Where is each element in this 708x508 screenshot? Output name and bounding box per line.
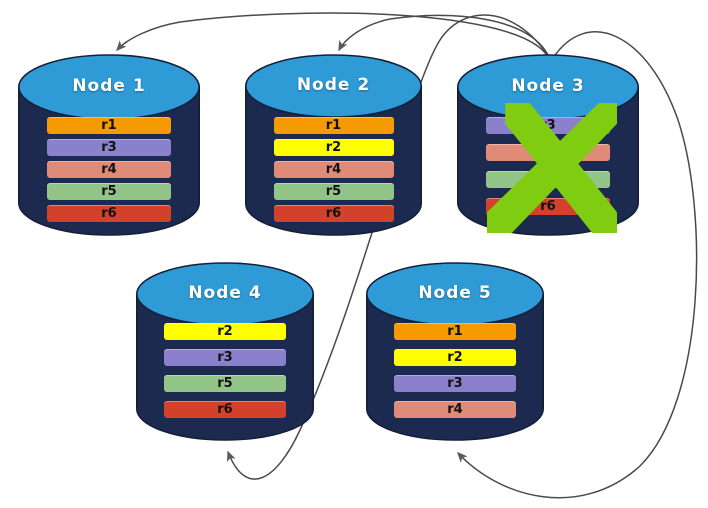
cylinder-top [458, 55, 638, 119]
replica-bar-r2[interactable]: r2 [394, 349, 516, 366]
replica-list: r1r3r4r5r6 [18, 117, 200, 222]
database-node-5[interactable]: Node 5r1r2r3r4 [366, 263, 544, 440]
replica-bar-r1[interactable]: r1 [274, 117, 394, 134]
database-node-1[interactable]: Node 1r1r3r4r5r6 [18, 55, 200, 235]
cylinder-top [19, 55, 199, 119]
replica-bar-r5[interactable]: r5 [47, 183, 171, 200]
replica-bar-r2[interactable]: r2 [274, 139, 394, 156]
replica-bar-r3[interactable]: r3 [486, 117, 610, 134]
replica-bar-r3[interactable]: r3 [47, 139, 171, 156]
cylinder-top [367, 263, 543, 325]
replica-bar-r2[interactable]: r2 [164, 323, 286, 340]
replica-bar-r6[interactable]: r6 [47, 205, 171, 222]
replica-bar-r6[interactable]: r6 [486, 198, 610, 215]
cylinder-top [246, 55, 421, 117]
diagram-canvas: Node 1r1r3r4r5r6Node 2r1r2r4r5r6Node 3r3… [0, 0, 708, 508]
edge-node3-to-node2 [339, 15, 549, 57]
replica-bar-r3[interactable]: r3 [394, 375, 516, 392]
replica-bar-r6[interactable]: r6 [274, 205, 394, 222]
replica-bar-r4[interactable]: r4 [47, 161, 171, 178]
replica-bar-r6[interactable]: r6 [164, 401, 286, 418]
database-node-4[interactable]: Node 4r2r3r5r6 [136, 263, 314, 440]
replica-list: r1r2r4r5r6 [245, 117, 422, 222]
replica-bar-r1[interactable]: r1 [47, 117, 171, 134]
database-node-3[interactable]: Node 3r3r4r5r6 [457, 55, 639, 235]
replica-bar-r4[interactable]: r4 [274, 161, 394, 178]
replica-bar-r5[interactable]: r5 [486, 171, 610, 188]
replica-list: r2r3r5r6 [136, 323, 314, 418]
replica-bar-r4[interactable]: r4 [486, 144, 610, 161]
replica-bar-r5[interactable]: r5 [274, 183, 394, 200]
database-node-2[interactable]: Node 2r1r2r4r5r6 [245, 55, 422, 235]
cylinder-top [137, 263, 313, 325]
replica-bar-r3[interactable]: r3 [164, 349, 286, 366]
edge-node3-to-node1 [117, 13, 548, 57]
replica-bar-r4[interactable]: r4 [394, 401, 516, 418]
replica-bar-r1[interactable]: r1 [394, 323, 516, 340]
replica-list: r3r4r5r6 [457, 117, 639, 215]
replica-bar-r5[interactable]: r5 [164, 375, 286, 392]
replica-list: r1r2r3r4 [366, 323, 544, 418]
